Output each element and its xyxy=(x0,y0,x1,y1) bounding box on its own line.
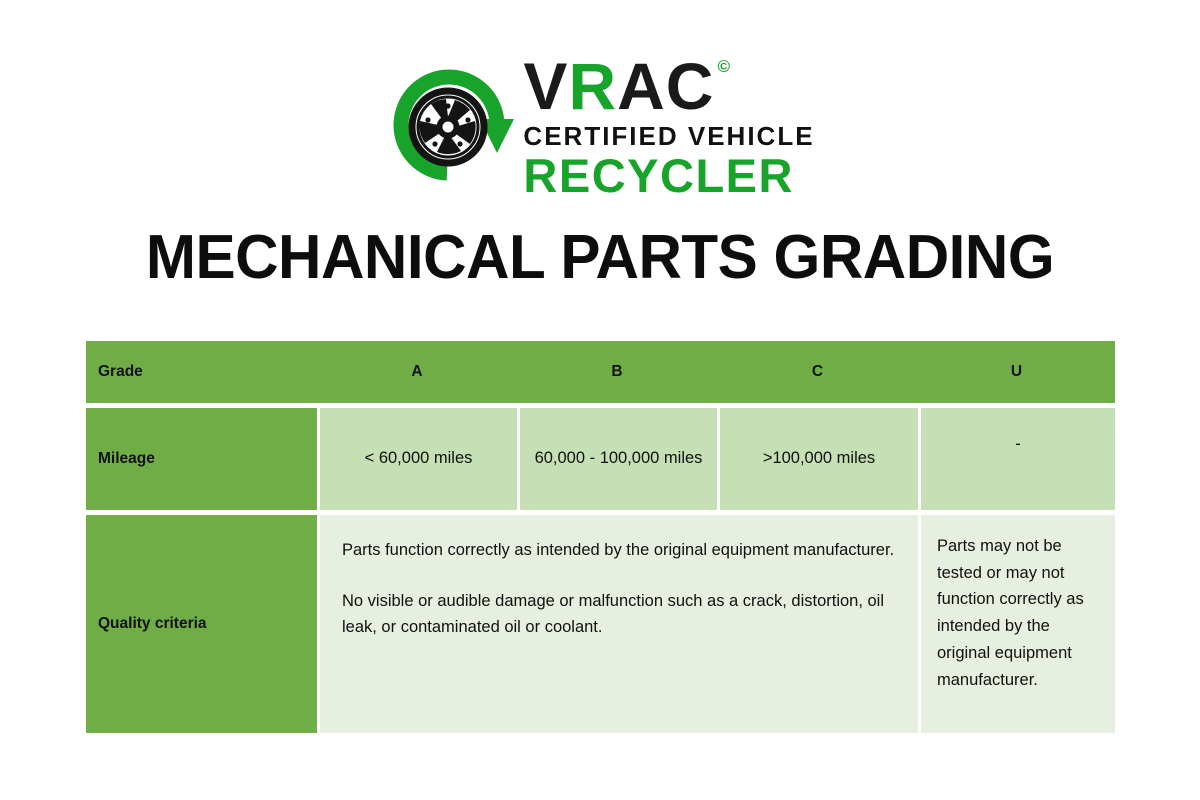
cell-mileage-a: < 60,000 miles xyxy=(317,408,517,510)
table-header-b: B xyxy=(517,341,717,403)
table-header-grade: Grade xyxy=(86,341,317,403)
grading-poster: VRAC© CERTIFIED VEHICLE RECYCLER MECHANI… xyxy=(0,0,1200,800)
table-row-mileage: Mileage < 60,000 miles 60,000 - 100,000 … xyxy=(86,408,1115,510)
logo-tagline: CERTIFIED VEHICLE xyxy=(523,123,814,149)
row-label-mileage: Mileage xyxy=(86,408,317,510)
green-circular-arrow-wheel-icon xyxy=(385,61,517,193)
mechanical-parts-grading-table: Grade A B C U Mileage < 60,000 miles 60,… xyxy=(86,341,1115,733)
page-title: MECHANICAL PARTS GRADING xyxy=(18,222,1182,293)
table-row-quality-criteria: Quality criteria Parts function correctl… xyxy=(86,515,1115,733)
logo-wordmark-v: V xyxy=(523,55,568,118)
copyright-icon: © xyxy=(717,58,731,75)
table-header-c: C xyxy=(717,341,918,403)
table-header-u: U xyxy=(918,341,1115,403)
table-header-row: Grade A B C U xyxy=(86,341,1115,403)
cell-mileage-b: 60,000 - 100,000 miles xyxy=(517,408,717,510)
cell-mileage-c: >100,000 miles xyxy=(717,408,918,510)
logo-recycler-word: RECYCLER xyxy=(523,152,814,199)
cell-mileage-u: - xyxy=(918,408,1115,510)
quality-paragraph-2: No visible or audible damage or malfunct… xyxy=(342,588,898,641)
logo-wordmark: VRAC© xyxy=(523,55,814,118)
quality-paragraph-u: Parts may not be tested or may not funct… xyxy=(937,533,1099,693)
vrac-logo: VRAC© CERTIFIED VEHICLE RECYCLER xyxy=(0,52,1200,202)
row-label-quality-criteria: Quality criteria xyxy=(86,515,317,733)
cell-quality-abc: Parts function correctly as intended by … xyxy=(317,515,918,733)
table-header-a: A xyxy=(317,341,517,403)
logo-wordmark-r: R xyxy=(568,55,617,118)
cell-quality-u: Parts may not be tested or may not funct… xyxy=(918,515,1115,733)
logo-wordmark-ac: AC xyxy=(617,55,714,118)
quality-paragraph-1: Parts function correctly as intended by … xyxy=(342,537,898,564)
